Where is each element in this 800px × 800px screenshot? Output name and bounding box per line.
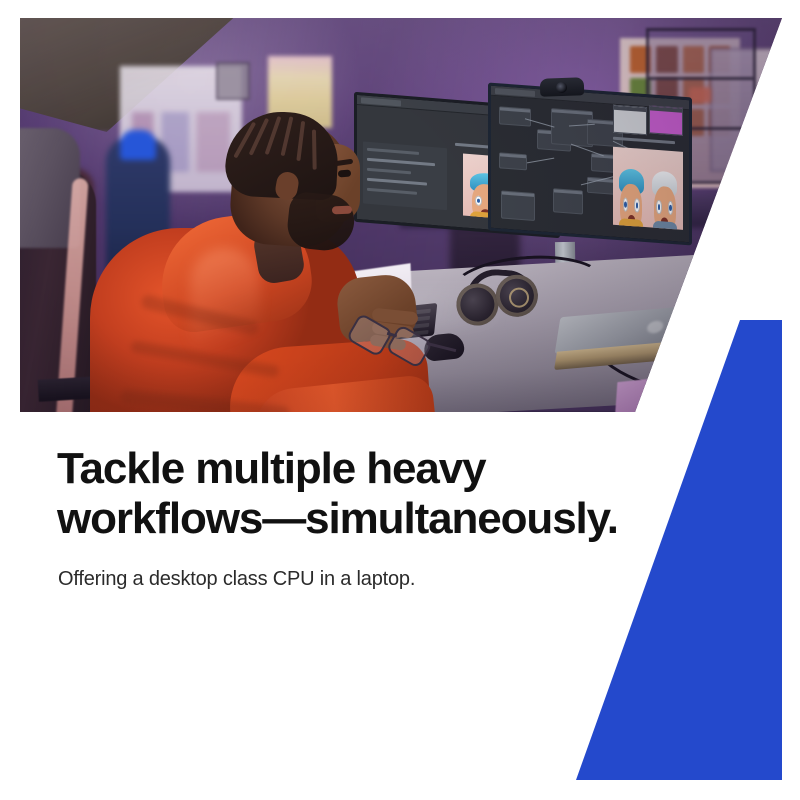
sticky-note (615, 377, 663, 412)
graph-wire (527, 158, 554, 164)
person-at-desk (80, 98, 410, 412)
graph-node (501, 190, 535, 220)
character-blue-hair (619, 168, 644, 230)
copy-block: Tackle multiple heavy workflows—simultan… (57, 444, 657, 592)
monitor-right-screen (491, 86, 689, 243)
eye (338, 170, 351, 178)
monitor-right (488, 83, 692, 246)
hero-photo-scene (20, 18, 782, 412)
headphones (454, 267, 544, 329)
hero-image (20, 18, 782, 412)
marketing-card: Tackle multiple heavy workflows—simultan… (0, 0, 800, 800)
shelf-object (689, 87, 711, 103)
viewport-render (613, 147, 683, 230)
render-thumbnail-magenta (649, 105, 683, 135)
render-thumbnail-grayscale (613, 105, 647, 135)
app-tab (495, 88, 535, 97)
graph-node (553, 188, 583, 214)
character-white-hair (652, 171, 677, 230)
graph-node (499, 152, 527, 170)
headphone-cup (494, 273, 539, 318)
graph-node (499, 106, 531, 126)
headline: Tackle multiple heavy workflows—simultan… (57, 444, 657, 544)
lips (332, 206, 352, 215)
framed-picture (216, 62, 250, 100)
subheadline: Offering a desktop class CPU in a laptop… (58, 566, 657, 592)
laptop (552, 306, 692, 370)
webcam (540, 77, 585, 97)
